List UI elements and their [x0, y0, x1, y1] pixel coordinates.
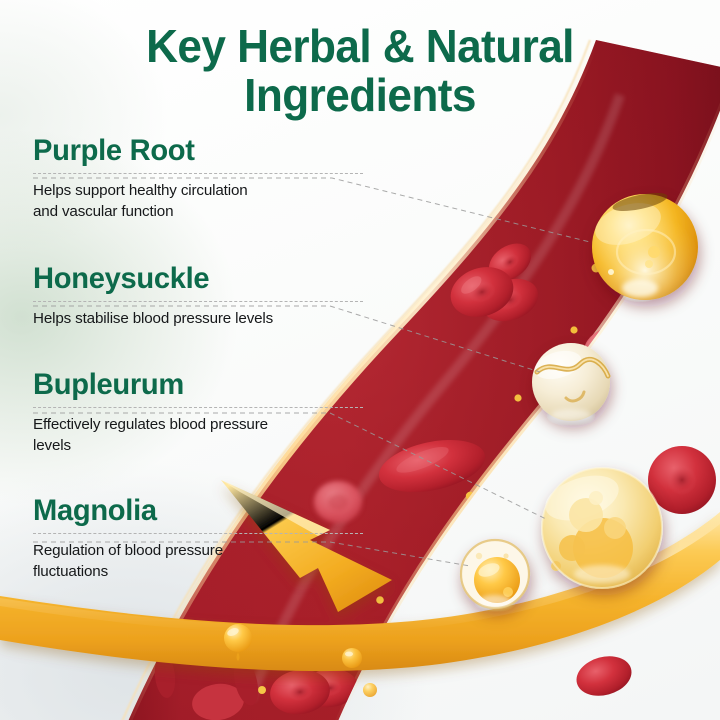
ingredient-divider: [33, 533, 363, 534]
ingredient-name: Purple Root: [33, 135, 353, 167]
page-title: Key Herbal & Natural Ingredients: [14, 22, 705, 120]
ingredient-name: Magnolia: [33, 495, 353, 527]
ingredient-block-honeysuckle: Honeysuckle Helps stabilise blood pressu…: [33, 263, 363, 330]
ingredient-name: Honeysuckle: [33, 263, 353, 295]
ingredient-description-line: Regulation of blood pressure: [33, 541, 363, 562]
infographic-page: Key Herbal & Natural Ingredients Purple …: [0, 0, 720, 720]
ingredient-description-line: and vascular function: [33, 202, 363, 223]
ingredient-block-magnolia: Magnolia Regulation of blood pressure fl…: [33, 495, 363, 583]
ingredient-block-purple-root: Purple Root Helps support healthy circul…: [33, 135, 363, 223]
ingredient-divider: [33, 407, 363, 408]
ingredient-description: Regulation of blood pressure fluctuation…: [33, 541, 363, 583]
ingredient-block-bupleurum: Bupleurum Effectively regulates blood pr…: [33, 369, 363, 457]
ingredient-description: Helps stabilise blood pressure levels: [33, 309, 363, 330]
page-title-line-1: Key Herbal & Natural: [14, 22, 705, 71]
ingredient-divider: [33, 173, 363, 174]
page-title-line-2: Ingredients: [14, 71, 705, 120]
ingredient-name: Bupleurum: [33, 369, 353, 401]
ingredient-divider: [33, 301, 363, 302]
ingredient-description: Helps support healthy circulation and va…: [33, 181, 363, 223]
ingredient-description-line: Helps support healthy circulation: [33, 181, 363, 202]
ingredient-description-line: Helps stabilise blood pressure levels: [33, 309, 363, 330]
ingredient-description: Effectively regulates blood pressure lev…: [33, 415, 363, 457]
ingredient-description-line: levels: [33, 436, 363, 457]
ingredient-description-line: Effectively regulates blood pressure: [33, 415, 363, 436]
ingredient-description-line: fluctuations: [33, 562, 363, 583]
